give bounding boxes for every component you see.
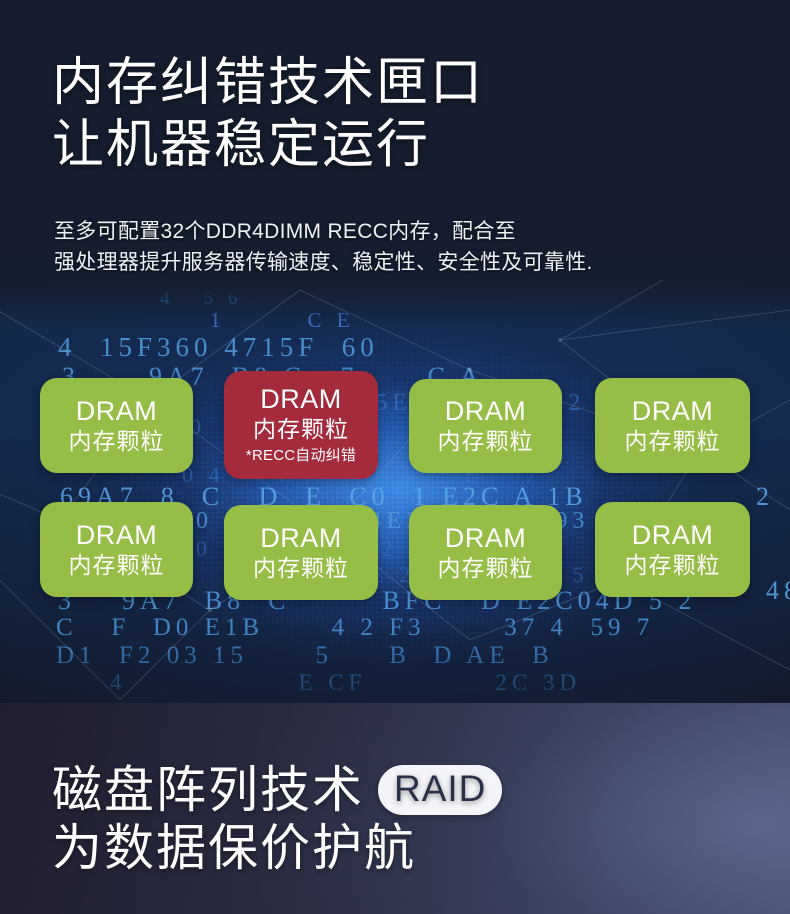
raid-line-1: 磁盘阵列技术 RAID <box>52 761 752 819</box>
dram-chip-recc[interactable]: DRAM 内存颗粒 *RECC自动纠错 <box>224 371 378 479</box>
dram-chip[interactable]: DRAM 内存颗粒 <box>40 502 193 597</box>
chip-label-cn: 内存颗粒 <box>438 554 534 583</box>
chip-label-en: DRAM <box>76 520 158 551</box>
chip-label-cn: 内存颗粒 <box>69 551 165 580</box>
raid-line-2: 为数据保价护航 <box>52 819 752 877</box>
subtitle-line-1: 至多可配置32个DDR4DIMM RECC内存，配合至 <box>54 216 754 247</box>
chip-label-en: DRAM <box>632 396 714 427</box>
subtitle-line-2: 强处理器提升服务器传输速度、稳定性、安全性及可靠性. <box>54 247 754 278</box>
chip-label-en: DRAM <box>260 523 342 554</box>
chip-label-cn: 内存颗粒 <box>438 427 534 456</box>
raid-line-2-text: 为数据保价护航 <box>52 819 416 877</box>
chip-label-en: DRAM <box>632 520 714 551</box>
chip-recc-note: *RECC自动纠错 <box>246 446 356 466</box>
dram-chip[interactable]: DRAM 内存颗粒 <box>40 378 193 473</box>
dram-chip[interactable]: DRAM 内存颗粒 <box>224 505 378 600</box>
raid-line-1-text: 磁盘阵列技术 <box>52 761 364 819</box>
dram-chip[interactable]: DRAM 内存颗粒 <box>595 378 750 473</box>
raid-headline: 磁盘阵列技术 RAID 为数据保价护航 <box>52 761 752 877</box>
page-title: 内存纠错技术匣口 让机器稳定运行 <box>52 52 752 176</box>
dram-chip[interactable]: DRAM 内存颗粒 <box>409 379 562 473</box>
chip-label-cn: 内存颗粒 <box>69 427 165 456</box>
dram-chip[interactable]: DRAM 内存颗粒 <box>409 505 562 600</box>
chip-label-en: DRAM <box>445 396 527 427</box>
chip-label-en: DRAM <box>445 523 527 554</box>
title-line-2: 让机器稳定运行 <box>52 114 752 176</box>
product-detail-page: 4 5 6 1 C E 4 15F360 4715F 60 3 9A7 B8 C… <box>0 0 790 914</box>
chip-label-en: DRAM <box>76 396 158 427</box>
chip-label-en: DRAM <box>260 384 342 415</box>
chip-label-cn: 内存颗粒 <box>253 415 349 444</box>
dram-chip[interactable]: DRAM 内存颗粒 <box>595 502 750 597</box>
chip-label-cn: 内存颗粒 <box>253 554 349 583</box>
title-line-1: 内存纠错技术匣口 <box>52 52 752 114</box>
subtitle: 至多可配置32个DDR4DIMM RECC内存，配合至 强处理器提升服务器传输速… <box>54 216 754 278</box>
raid-badge: RAID <box>378 765 502 815</box>
chip-label-cn: 内存颗粒 <box>625 427 721 456</box>
chip-label-cn: 内存颗粒 <box>625 551 721 580</box>
